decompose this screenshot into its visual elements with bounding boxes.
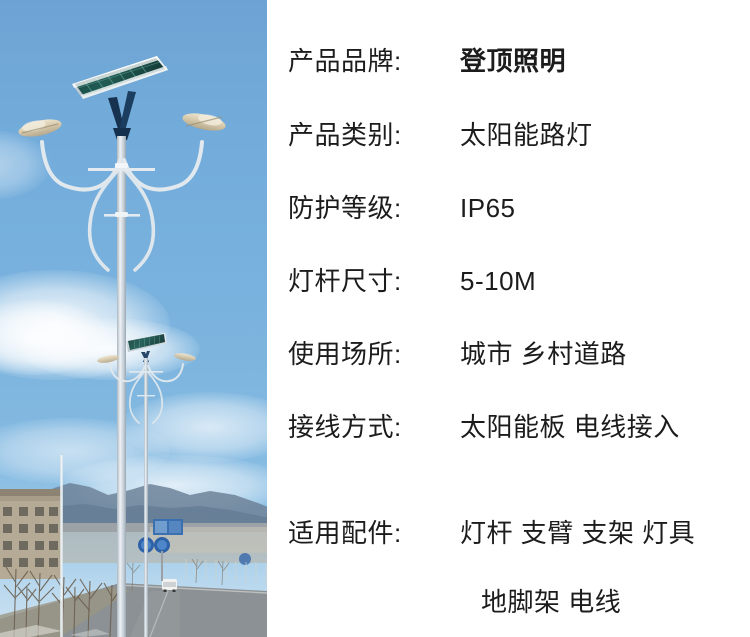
spec-row-accessories: 适用配件: 灯杆 支臂 支架 灯具 xyxy=(288,513,695,550)
product-spec-banner: 产品品牌: 登顶照明 产品类别: 太阳能路灯 防护等级: IP65 灯杆尺寸: … xyxy=(0,0,750,637)
second-lamp-head-right xyxy=(174,352,197,363)
lamp-pole xyxy=(117,136,126,637)
solar-panel xyxy=(72,56,168,99)
spec-row-pole-size: 灯杆尺寸: 5-10M xyxy=(288,261,536,298)
spec-value-protection-grade: IP65 xyxy=(460,193,516,224)
spec-value-wiring-method: 太阳能板 电线接入 xyxy=(460,407,680,444)
second-lamp-pole xyxy=(144,358,148,637)
spec-value-category: 太阳能路灯 xyxy=(460,115,593,152)
spec-label-usage-place: 使用场所: xyxy=(288,334,460,371)
spec-label-brand: 产品品牌: xyxy=(288,41,460,78)
left-lamp-head xyxy=(17,116,63,140)
spec-row-category: 产品类别: 太阳能路灯 xyxy=(288,115,593,152)
spec-label-wiring-method: 接线方式: xyxy=(288,407,460,444)
panel-bracket xyxy=(108,91,136,140)
pole-collar xyxy=(115,163,128,168)
spec-row-wiring-method: 接线方式: 太阳能板 电线接入 xyxy=(288,407,680,444)
solar-street-lamps xyxy=(0,0,267,637)
product-photo xyxy=(0,0,267,637)
spec-value-accessories: 灯杆 支臂 支架 灯具 xyxy=(460,513,695,550)
pole-collar xyxy=(115,212,128,217)
spec-row-protection-grade: 防护等级: IP65 xyxy=(288,188,516,225)
main-lamp xyxy=(17,56,227,637)
spec-value-brand: 登顶照明 xyxy=(460,41,566,78)
spec-row-usage-place: 使用场所: 城市 乡村道路 xyxy=(288,334,627,371)
spec-value-pole-size: 5-10M xyxy=(460,266,536,297)
spec-label-category: 产品类别: xyxy=(288,115,460,152)
spec-value-usage-place: 城市 乡村道路 xyxy=(460,334,627,371)
spec-label-accessories: 适用配件: xyxy=(288,513,460,550)
second-lamp xyxy=(97,333,197,637)
spec-value-accessories-continued: 地脚架 电线 xyxy=(481,582,621,619)
spec-label-protection-grade: 防护等级: xyxy=(288,188,460,225)
right-lamp-head xyxy=(181,110,227,134)
spec-panel: 产品品牌: 登顶照明 产品类别: 太阳能路灯 防护等级: IP65 灯杆尺寸: … xyxy=(267,0,750,637)
spec-label-pole-size: 灯杆尺寸: xyxy=(288,261,460,298)
second-lamp-head-left xyxy=(97,354,120,365)
cross-bar xyxy=(88,168,155,171)
distant-poles xyxy=(60,455,63,637)
spec-row-brand: 产品品牌: 登顶照明 xyxy=(288,41,566,78)
